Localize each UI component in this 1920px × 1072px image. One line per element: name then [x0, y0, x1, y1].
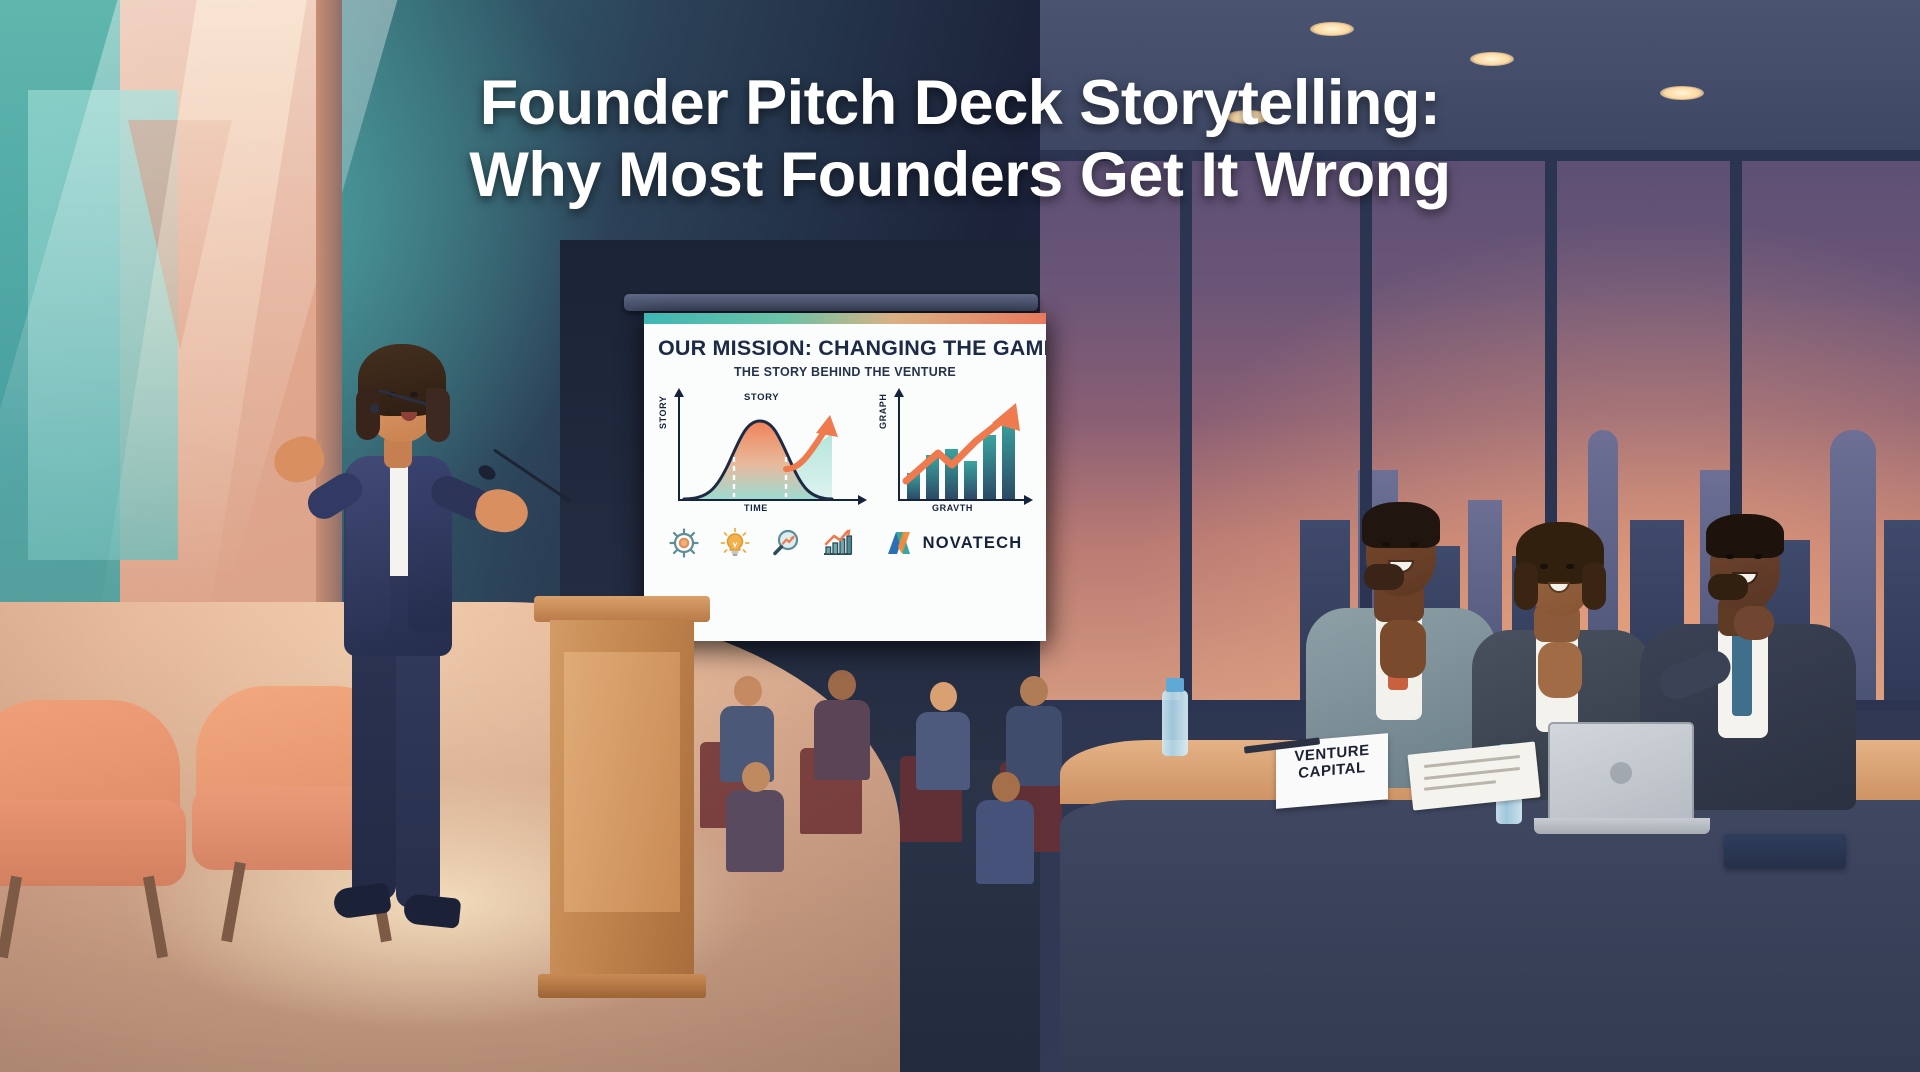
- panelist-right-hand: [1734, 606, 1774, 640]
- audience-person: [726, 790, 784, 872]
- panelist-center-hands: [1538, 642, 1582, 698]
- panelist-right-eye: [1726, 554, 1734, 559]
- water-bottle: [1162, 690, 1188, 756]
- growth-chart-xlabel: GRAVTH: [932, 503, 973, 513]
- speaker-leg-right: [396, 630, 440, 908]
- city-building: [1884, 520, 1920, 710]
- speaker-hair-side-right: [426, 388, 450, 442]
- gear-icon: [668, 527, 700, 559]
- novatech-logo-text: NOVATECH: [923, 534, 1023, 553]
- audience-person: [814, 700, 870, 780]
- novatech-chevron-logo-icon: [886, 529, 916, 557]
- lightbulb-icon: [719, 527, 751, 559]
- page-title: Founder Pitch Deck Storytelling: Why Mos…: [0, 68, 1920, 212]
- growth-bar-chart: GRAPH: [880, 393, 1030, 521]
- audience-head: [992, 772, 1020, 802]
- audience-person: [976, 800, 1034, 884]
- speaker-leg-left: [352, 630, 396, 900]
- panelist-center-hair-left: [1514, 562, 1538, 610]
- panelist-left-beard: [1364, 564, 1404, 590]
- slide-accent-bar: [644, 313, 1046, 324]
- speaker-shoe-left: [332, 882, 392, 920]
- bar-chart-arrow-icon: [821, 527, 853, 559]
- panelist-left-hair: [1362, 502, 1440, 548]
- magnifier-chart-icon: [770, 527, 802, 559]
- speaker-shoe-right: [403, 893, 462, 929]
- speaker-figure: [300, 330, 560, 990]
- ceiling-light-icon: [1470, 52, 1514, 66]
- panelist-right-tie: [1732, 632, 1752, 716]
- laptop-screen: [1548, 722, 1694, 820]
- panelist-right-eye: [1754, 554, 1762, 559]
- audience-head: [1020, 676, 1048, 706]
- story-curve-svg: [660, 393, 864, 521]
- audience-head: [734, 676, 762, 706]
- podium-top: [534, 596, 710, 622]
- headset-mic-tip-icon: [370, 404, 379, 413]
- notebook: [1724, 834, 1846, 868]
- slide-subtitle: THE STORY BEHIND THE VENTURE: [658, 365, 1032, 379]
- audience-person: [916, 712, 970, 790]
- growth-bars-svg: [880, 393, 1030, 521]
- presentation-screen: OUR MISSION: CHANGING THE GAME THE STORY…: [644, 313, 1046, 641]
- ceiling-light-icon: [1310, 22, 1354, 36]
- headline-line-1: Founder Pitch Deck Storytelling:: [0, 68, 1920, 140]
- podium: [534, 596, 710, 1032]
- panelist-center-hair-right: [1582, 562, 1606, 610]
- slide-icon-row: NOVATECH: [658, 527, 1032, 559]
- audience-head: [742, 762, 770, 792]
- lounge-chair-seat: [0, 800, 186, 886]
- panelist-center-eye: [1540, 564, 1548, 569]
- panelist-center-eye: [1566, 564, 1574, 569]
- novatech-logo: NOVATECH: [886, 529, 1023, 557]
- headline-line-2: Why Most Founders Get It Wrong: [0, 140, 1920, 212]
- screen-mount-bar: [624, 294, 1038, 311]
- panelist-right-beard: [1708, 574, 1748, 600]
- panelist-right-hair: [1706, 514, 1784, 558]
- panelist-left-eye: [1410, 542, 1418, 547]
- panelist-left-hands: [1380, 620, 1426, 678]
- illustration-canvas: OUR MISSION: CHANGING THE GAME THE STORY…: [0, 0, 1920, 1072]
- bottle-cap: [1166, 678, 1184, 692]
- panelist-left-eye: [1382, 542, 1390, 547]
- podium-front-panel: [564, 652, 680, 912]
- speaker-eye-right: [410, 392, 418, 397]
- audience-head: [930, 682, 957, 711]
- podium-base: [538, 974, 706, 998]
- window-mullion: [1180, 150, 1192, 710]
- laptop-logo-icon: [1610, 762, 1632, 784]
- laptop-base: [1534, 818, 1710, 834]
- slide-title: OUR MISSION: CHANGING THE GAME: [658, 336, 1032, 361]
- speaker-hair-side-left: [356, 388, 380, 440]
- story-chart-xlabel: TIME: [744, 503, 768, 513]
- audience-head: [828, 670, 856, 700]
- slide-charts: STORY STORY: [658, 393, 1032, 521]
- story-curve-chart: STORY STORY: [660, 393, 864, 521]
